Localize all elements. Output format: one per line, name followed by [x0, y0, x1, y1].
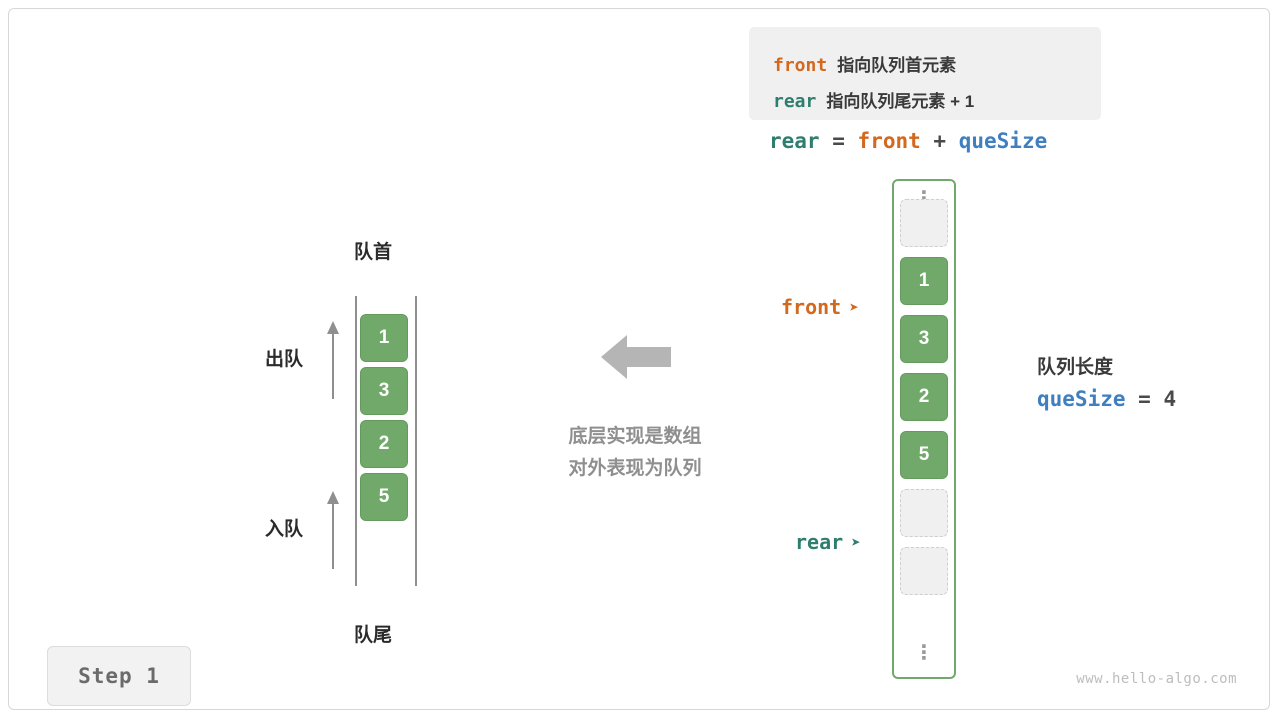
enqueue-label: 入队 — [265, 514, 303, 541]
step-badge: Step 1 — [47, 646, 191, 706]
quesize-token: queSize — [1037, 387, 1126, 411]
note-box: front 指向队列首元素 rear 指向队列尾元素 + 1 — [749, 27, 1101, 120]
queue-cell: 2 — [360, 420, 408, 468]
array-cell: 2 — [900, 373, 948, 421]
rear-pointer-label: rear — [795, 530, 843, 554]
queue-cell-list: 1 3 2 5 — [360, 314, 408, 521]
note-front-token: front — [773, 55, 827, 76]
array-cell: 1 — [900, 257, 948, 305]
formula-rear: rear — [769, 129, 820, 153]
note-rear-token: rear — [773, 91, 816, 112]
caption-line-1: 底层实现是数组 — [537, 421, 733, 453]
array-cell-empty — [900, 489, 948, 537]
array-bottom-ellipsis: ⋮ — [892, 643, 956, 663]
queue-head-label: 队首 — [354, 237, 392, 264]
note-rear-text: 指向队列尾元素 + 1 — [826, 87, 974, 112]
formula-equals: = — [832, 129, 845, 153]
note-row-rear: rear 指向队列尾元素 + 1 — [773, 87, 974, 112]
array-cell-list: 1 3 2 5 — [900, 199, 948, 595]
array-cell-empty — [900, 547, 948, 595]
queue-tail-label: 队尾 — [354, 620, 392, 647]
front-pointer-label: front — [781, 295, 841, 319]
queue-cell: 3 — [360, 367, 408, 415]
queue-guide-line-right — [415, 296, 417, 586]
formula-quesize: queSize — [959, 129, 1048, 153]
diagram-canvas: Step 1 队首 队尾 1 3 2 5 出队 入队 底层实现是数组 对外表现为… — [8, 8, 1270, 710]
rear-pointer-arrow-icon: ➤ — [851, 533, 861, 552]
queue-length-label: 队列长度 — [1037, 352, 1113, 379]
note-front-text: 指向队列首元素 — [837, 51, 956, 76]
dequeue-label: 出队 — [265, 344, 303, 371]
left-arrow-icon — [601, 331, 671, 383]
front-pointer: front ➤ — [781, 295, 859, 319]
front-pointer-arrow-icon: ➤ — [849, 298, 859, 317]
quesize-number: 4 — [1163, 387, 1176, 411]
array-cell: 3 — [900, 315, 948, 363]
queue-cell: 1 — [360, 314, 408, 362]
formula-expression: rear = front + queSize — [769, 129, 1047, 153]
formula-plus: + — [933, 129, 946, 153]
center-caption: 底层实现是数组 对外表现为队列 — [537, 421, 733, 485]
enqueue-arrow-icon — [325, 491, 341, 569]
array-cell-empty — [900, 199, 948, 247]
rear-pointer: rear ➤ — [795, 530, 861, 554]
caption-line-2: 对外表现为队列 — [537, 453, 733, 485]
formula-front: front — [858, 129, 921, 153]
quesize-value-line: queSize = 4 — [1037, 387, 1176, 411]
note-row-front: front 指向队列首元素 — [773, 51, 956, 76]
quesize-equals: = — [1138, 387, 1151, 411]
queue-guide-line-left — [355, 296, 357, 586]
array-cell: 5 — [900, 431, 948, 479]
watermark: www.hello-algo.com — [1076, 671, 1237, 687]
dequeue-arrow-icon — [325, 321, 341, 399]
queue-cell: 5 — [360, 473, 408, 521]
